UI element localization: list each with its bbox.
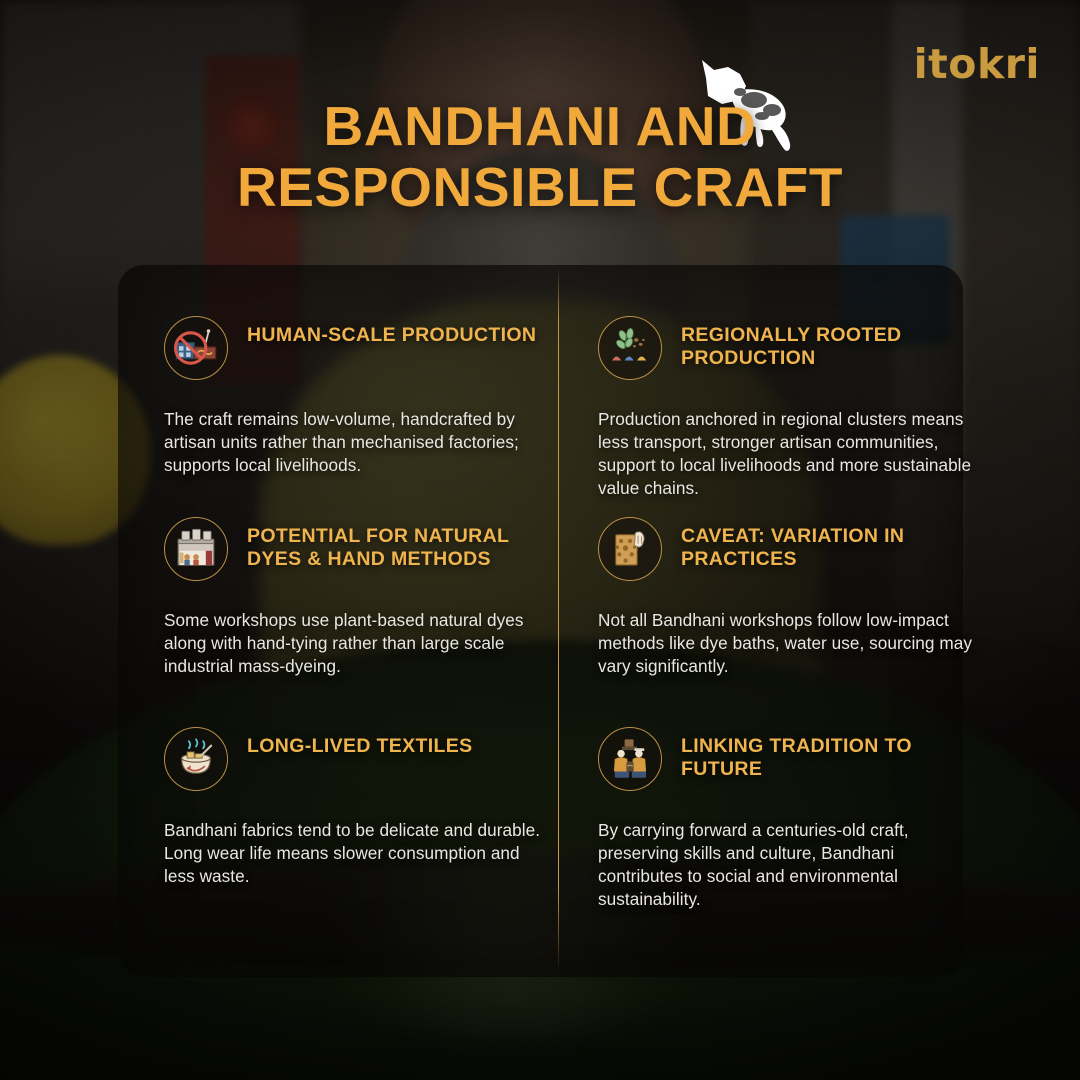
card-header: REGIONALLY ROOTED PRODUCTION	[582, 316, 982, 380]
no-factory-icon	[164, 316, 228, 380]
itokri-logo[interactable]: itokri	[914, 44, 1040, 85]
card-body: Not all Bandhani workshops follow low-im…	[582, 609, 982, 678]
card-body: Bandhani fabrics tend to be delicate and…	[150, 819, 550, 888]
card-header: LINKING TRADITION TO FUTURE	[582, 727, 982, 791]
card-body: Production anchored in regional clusters…	[582, 408, 982, 500]
card-header: CAVEAT: VARIATION IN PRACTICES	[582, 517, 982, 581]
card-header: LONG-LIVED TEXTILES	[150, 727, 550, 791]
steaming-dye-pot-icon	[164, 727, 228, 791]
card-human-scale-production: HUMAN-SCALE PRODUCTION The craft remains…	[150, 316, 550, 477]
artisan-workshop-building-icon	[164, 517, 228, 581]
card-header: HUMAN-SCALE PRODUCTION	[150, 316, 550, 380]
card-title: HUMAN-SCALE PRODUCTION	[247, 316, 536, 347]
infographic-poster: itokri BANDHANI AND RESPONSIBLE CRAFT	[0, 0, 1080, 1080]
card-potential-for-natural-dyes: POTENTIAL FOR NATURAL DYES & HAND METHOD…	[150, 517, 550, 678]
card-body: Some workshops use plant-based natural d…	[150, 609, 550, 678]
leaves-and-dye-powder-icon	[598, 316, 662, 380]
page-title-line-2: RESPONSIBLE CRAFT	[0, 157, 1080, 218]
card-regionally-rooted-production: REGIONALLY ROOTED PRODUCTION Production …	[582, 316, 982, 500]
card-title: REGIONALLY ROOTED PRODUCTION	[681, 316, 982, 371]
column-divider	[558, 267, 559, 971]
card-long-lived-textiles: LONG-LIVED TEXTILES Bandhani fabrics ten…	[150, 727, 550, 888]
page-title-line-1: BANDHANI AND	[324, 95, 757, 157]
card-title: POTENTIAL FOR NATURAL DYES & HAND METHOD…	[247, 517, 550, 572]
card-body: The craft remains low-volume, handcrafte…	[150, 408, 550, 477]
card-caveat-variation-in-practices: CAVEAT: VARIATION IN PRACTICES Not all B…	[582, 517, 982, 678]
card-linking-tradition-to-future: LINKING TRADITION TO FUTURE By carrying …	[582, 727, 982, 911]
card-header: POTENTIAL FOR NATURAL DYES & HAND METHOD…	[150, 517, 550, 581]
card-body: By carrying forward a centuries-old craf…	[582, 819, 982, 911]
card-title: CAVEAT: VARIATION IN PRACTICES	[681, 517, 982, 572]
card-title: LINKING TRADITION TO FUTURE	[681, 727, 982, 782]
poster-header: itokri BANDHANI AND RESPONSIBLE CRAFT	[0, 0, 1080, 250]
card-title: LONG-LIVED TEXTILES	[247, 727, 473, 758]
hand-holding-bandhani-fabric-icon	[598, 517, 662, 581]
page-title: BANDHANI AND RESPONSIBLE CRAFT	[0, 96, 1080, 217]
two-artisans-working-icon	[598, 727, 662, 791]
